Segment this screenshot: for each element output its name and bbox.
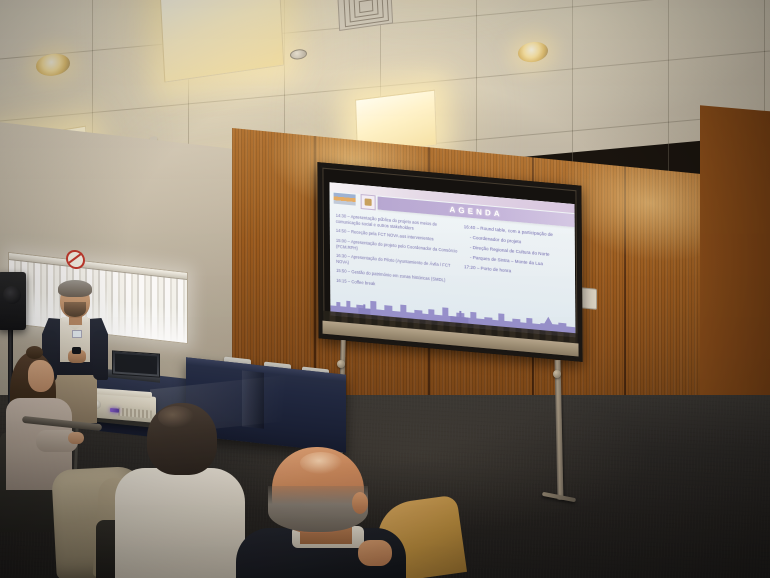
presenter-hair — [58, 280, 92, 297]
attendee-face — [28, 360, 54, 392]
pa-speaker — [0, 272, 26, 330]
laptop[interactable] — [112, 350, 160, 377]
attendee-ear — [352, 492, 368, 514]
presenter-arm — [93, 330, 108, 380]
conference-room-photo: AGENDA 14:30 – Apresentação pública do p… — [0, 0, 770, 578]
presenter-badge — [72, 330, 82, 338]
partner-logo-crest-icon — [361, 194, 376, 210]
projector-status-led — [110, 408, 119, 413]
screen-leg-knob — [337, 360, 345, 368]
attendee-hand — [68, 432, 84, 444]
presentation-clicker[interactable] — [72, 347, 81, 354]
agenda-left-column: 14:30 – Apresentação pública do projeto … — [336, 213, 459, 298]
projection-screen[interactable]: AGENDA 14:30 – Apresentação pública do p… — [317, 162, 582, 362]
partner-logo-left-icon — [334, 193, 356, 206]
speaker-cone-icon — [3, 286, 21, 304]
agenda-right-column: 16:40 – Round table, com a participação … — [464, 224, 576, 284]
attendee-hair-tie — [26, 346, 43, 359]
attendee-hand — [358, 540, 392, 566]
wall-outlet-icon — [580, 287, 597, 310]
presenter-beard — [64, 302, 86, 317]
laptop-screen — [115, 354, 157, 375]
screen-leg-knob — [553, 370, 561, 378]
projector-vent-icon — [118, 408, 152, 419]
attendee-shirt — [115, 468, 245, 578]
